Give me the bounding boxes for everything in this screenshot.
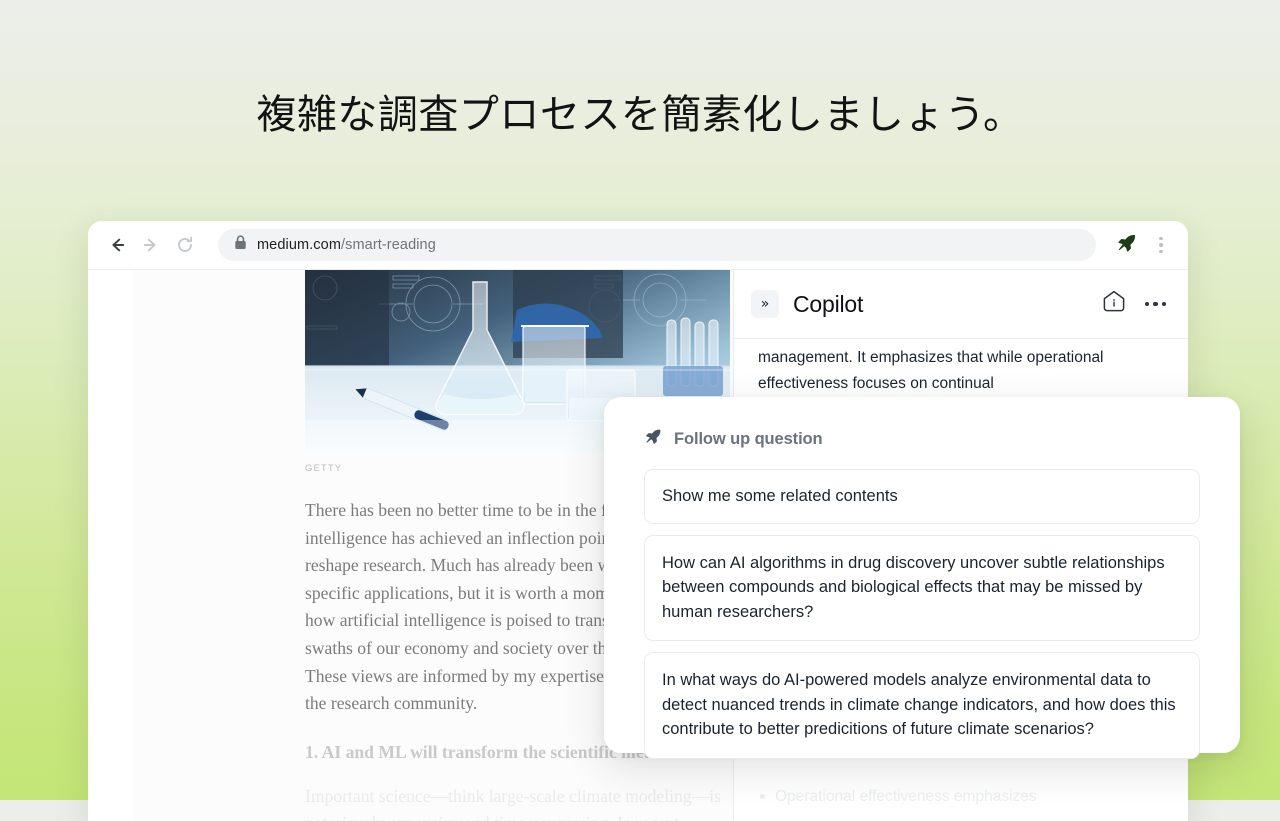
forward-button[interactable] — [136, 230, 166, 260]
suggestion-chip-1[interactable]: Show me some related contents — [644, 469, 1200, 524]
follow-up-title: Follow up question — [674, 430, 823, 449]
lock-icon — [234, 235, 247, 255]
address-bar[interactable]: medium.com/smart-reading — [218, 229, 1096, 261]
bullet-dot-icon — [760, 794, 765, 799]
reload-button[interactable] — [170, 230, 200, 260]
copilot-header: » Copilot — [734, 270, 1188, 339]
rocket-extension-icon[interactable] — [1116, 232, 1138, 259]
back-button[interactable] — [102, 230, 132, 260]
rocket-icon — [644, 427, 663, 451]
copilot-bullet-item: Operational effectiveness emphasizes — [760, 785, 1160, 809]
arrow-left-icon — [107, 235, 127, 255]
url-text: medium.com/smart-reading — [257, 237, 436, 253]
reload-icon — [175, 235, 195, 255]
arrow-right-icon — [141, 235, 161, 255]
more-horizontal-icon[interactable] — [1145, 302, 1167, 307]
toolbar-actions — [1116, 232, 1172, 259]
article-paragraph-2: Important science—think large-scale clim… — [305, 783, 733, 821]
copilot-header-actions — [1101, 289, 1167, 320]
url-path: /smart-reading — [341, 237, 436, 253]
copilot-bullet-text: Operational effectiveness emphasizes — [775, 785, 1037, 809]
page-title: 複雑な調査プロセスを簡素化しましょう。 — [0, 88, 1280, 142]
page-left-gutter — [88, 270, 133, 821]
copilot-answer-text: management. It emphasizes that while ope… — [758, 345, 1166, 397]
url-host: medium.com — [257, 237, 341, 253]
collapse-panel-button[interactable]: » — [751, 290, 779, 318]
follow-up-header: Follow up question — [644, 427, 1200, 451]
kebab-menu-icon[interactable] — [1152, 237, 1170, 254]
info-pentagon-icon[interactable] — [1101, 289, 1127, 320]
suggestion-chip-2[interactable]: How can AI algorithms in drug discovery … — [644, 535, 1200, 642]
browser-toolbar: medium.com/smart-reading — [88, 221, 1188, 270]
suggestion-chip-3[interactable]: In what ways do AI-powered models analyz… — [644, 652, 1200, 759]
copilot-title: Copilot — [793, 291, 863, 318]
follow-up-question-card: Follow up question Show me some related … — [604, 397, 1240, 753]
